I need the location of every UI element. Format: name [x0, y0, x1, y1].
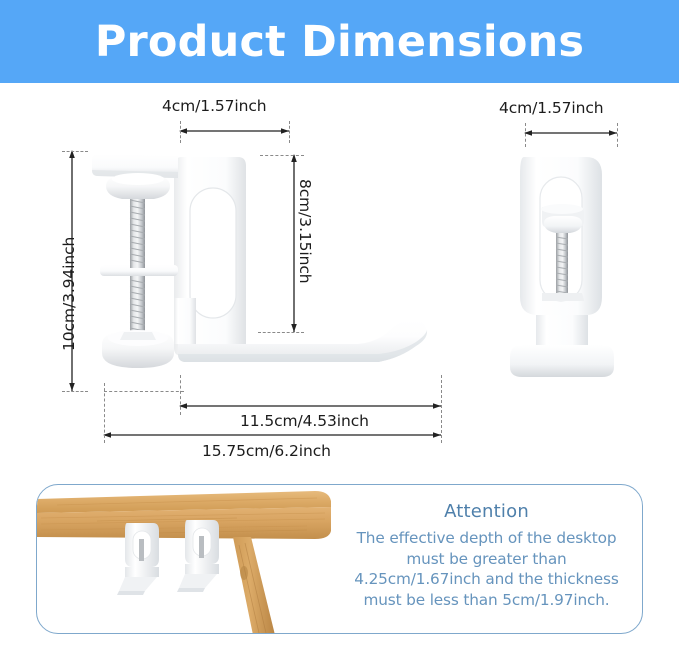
ext-line-top-right [289, 121, 290, 143]
attention-line-3: 4.25cm/1.67inch and the thickness [334, 569, 639, 590]
ext-line-top-left [180, 121, 181, 143]
dim-label-left-height: 10cm/3.94inch [60, 237, 78, 351]
ext-line-total-left [104, 383, 105, 443]
ext-line-arm-left [180, 375, 181, 415]
dim-label-plate-height: 8cm/3.15inch [296, 179, 314, 284]
attention-panel: Attention The effective depth of the des… [36, 484, 643, 634]
ext-line-height-top [62, 151, 88, 152]
ext-line-front-right [617, 123, 618, 147]
ext-line-arm-right [441, 375, 442, 443]
page-title: Product Dimensions [95, 17, 584, 67]
dim-label-arm-length: 11.5cm/4.53inch [240, 412, 369, 430]
clamp-side-view-illustration [78, 148, 438, 388]
dim-label-top-width: 4cm/1.57inch [162, 97, 267, 115]
clamp-front-view-illustration [506, 149, 626, 389]
ext-line-plate-bottom [258, 332, 304, 333]
ext-line-front-left [525, 123, 526, 147]
ext-line-total-base [104, 391, 184, 392]
dim-label-total-length: 15.75cm/6.2inch [202, 442, 331, 460]
header-banner: Product Dimensions [0, 0, 679, 83]
attention-text-block: Attention The effective depth of the des… [334, 501, 639, 610]
attention-line-1: The effective depth of the desktop [334, 528, 639, 549]
attention-line-2: must be greater than [334, 549, 639, 570]
ext-line-plate-top [260, 155, 304, 156]
dim-label-front-width: 4cm/1.57inch [499, 99, 604, 117]
attention-heading: Attention [334, 501, 639, 522]
attention-line-4: must be less than 5cm/1.97inch. [334, 590, 639, 611]
desk-with-clamps-illustration [37, 485, 357, 634]
ext-line-height-bottom [62, 391, 88, 392]
dimensions-diagram: 4cm/1.57inch 10cm/3.94inch 8cm/3.15inch … [0, 83, 679, 483]
